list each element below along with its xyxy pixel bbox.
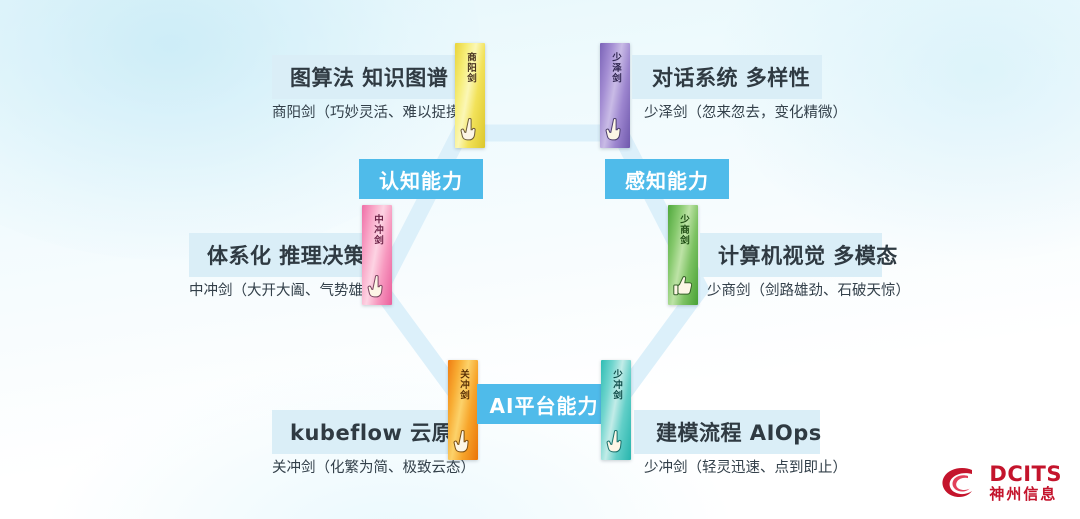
sword-bar-shaoshang[interactable]: 少商剑 (668, 205, 698, 305)
node-title-text: 对话系统 多样性 (652, 62, 810, 92)
sword-bar-shangyang[interactable]: 商阳剑 (455, 43, 485, 148)
sword-label: 少冲剑 (611, 369, 621, 401)
capability-chip-label: 感知能力 (625, 165, 709, 194)
pointing-finger-icon (603, 115, 627, 145)
slide-canvas: 图算法 知识图谱 商阳剑（巧妙灵活、难以捉摸） 商阳剑 少泽剑 对话系统 多样性… (0, 0, 1080, 519)
node-title-text: 计算机视觉 多模态 (718, 240, 898, 270)
sword-bar-guanchong[interactable]: 关冲剑 (448, 360, 478, 460)
node-title-text: 建模流程 AIOps (656, 417, 822, 447)
hexagon-connector (0, 0, 1080, 519)
sword-label: 少商剑 (678, 214, 688, 246)
logo-text-block: DCITS 神州信息 (989, 464, 1062, 502)
capability-chip-ai-platform[interactable]: AI平台能力 (477, 384, 611, 424)
sword-label: 中冲剑 (372, 214, 382, 246)
sword-bar-zhongchong[interactable]: 中冲剑 (362, 205, 392, 305)
capability-chip-perceptive[interactable]: 感知能力 (605, 159, 729, 199)
node-title-graph-algorithm: 图算法 知识图谱 (272, 55, 482, 99)
sword-label: 关冲剑 (458, 369, 468, 401)
sword-label: 商阳剑 (465, 52, 475, 84)
logo-en-text: DCITS (989, 464, 1062, 485)
sword-bar-shaoze[interactable]: 少泽剑 (600, 43, 630, 148)
pointing-finger-icon (604, 427, 628, 457)
node-title-text: 体系化 推理决策 (207, 240, 365, 270)
background-wash-left (0, 0, 480, 260)
node-title-computer-vision: 计算机视觉 多模态 (700, 233, 882, 277)
sword-bar-shaochong[interactable]: 少冲剑 (601, 360, 631, 460)
node-caption-computer-vision: 少商剑（剑路雄劲、石破天惊） (707, 279, 910, 300)
node-caption-graph-algorithm: 商阳剑（巧妙灵活、难以捉摸） (272, 101, 475, 122)
node-caption-dialogue-system: 少泽剑（忽来忽去，变化精微） (644, 101, 847, 122)
node-title-dialogue-system: 对话系统 多样性 (632, 55, 822, 99)
capability-chip-cognitive[interactable]: 认知能力 (359, 159, 483, 199)
node-title-kubeflow-cloudnative: kubeflow 云原生 (272, 410, 468, 454)
pointing-finger-icon (458, 115, 482, 145)
swirl-logo-icon (939, 463, 983, 503)
node-caption-kubeflow-cloudnative: 关冲剑（化繁为简、极致云态） (272, 456, 475, 477)
thumbs-up-icon (671, 272, 695, 302)
node-title-text: kubeflow 云原生 (290, 417, 475, 447)
logo-cn-text: 神州信息 (989, 487, 1062, 502)
node-caption-modeling-aiops: 少冲剑（轻灵迅速、点到即止） (644, 456, 847, 477)
company-logo: DCITS 神州信息 (939, 463, 1062, 503)
pointing-finger-icon (451, 427, 475, 457)
capability-chip-label: 认知能力 (379, 165, 463, 194)
sword-label: 少泽剑 (610, 52, 620, 84)
pointing-finger-icon (365, 272, 389, 302)
background-wash-right (720, 0, 1080, 260)
node-title-text: 图算法 知识图谱 (290, 62, 448, 92)
capability-chip-label: AI平台能力 (490, 390, 599, 419)
node-title-modeling-aiops: 建模流程 AIOps (634, 410, 820, 454)
node-title-systematic-reasoning: 体系化 推理决策 (189, 233, 371, 277)
